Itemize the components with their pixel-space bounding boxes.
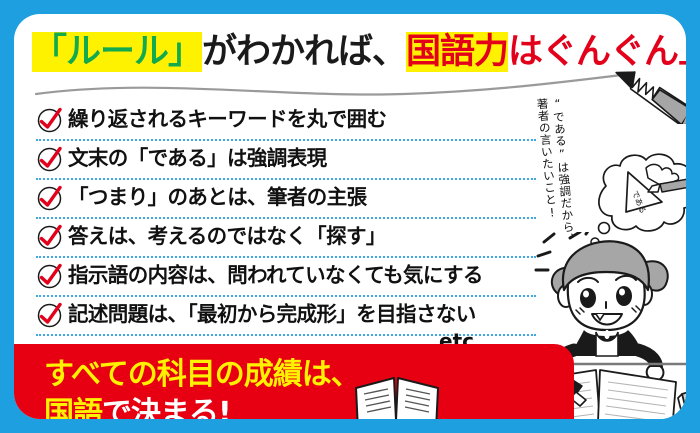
vertical-note: “である”は強調だから、 著者の言いたいこと!	[534, 96, 574, 216]
headline-segment-kokugoryoku: 国語力	[406, 32, 508, 72]
check-circle-icon	[36, 224, 63, 251]
list-item: 指示語の内容は、問われていなくても気にする	[36, 258, 536, 297]
check-circle-icon	[36, 185, 63, 212]
headline-segment-rule: 「ルール」	[32, 32, 202, 72]
list-item-label: 文末の「である」は強調表現	[68, 148, 327, 172]
bottom-banner: すべての科目の成績は、 国語で決まる!	[14, 344, 574, 419]
page-title: 「ルール」がわかれば、国語力はぐんぐん上がる!	[32, 30, 686, 74]
list-item-label: 繰り返されるキーワードを丸で囲む	[68, 109, 386, 133]
list-item-label: 「つまり」のあとは、筆者の主張	[68, 187, 367, 211]
check-circle-icon	[36, 302, 63, 329]
list-item: 答えは、考えるのではなく「探す」	[36, 219, 536, 258]
list-item: 文末の「である」は強調表現	[36, 141, 536, 180]
check-circle-icon	[36, 263, 63, 290]
white-card: 「ルール」がわかれば、国語力はぐんぐん上がる!	[14, 14, 686, 419]
list-item: 繰り返されるキーワードを丸で囲む	[36, 102, 536, 141]
check-circle-icon	[36, 107, 63, 134]
headline-segment-connector: がわかれば、	[202, 32, 406, 72]
poster-root: 「ルール」がわかれば、国語力はぐんぐん上がる!	[0, 0, 700, 433]
rules-checklist: 繰り返されるキーワードを丸で囲む 文末の「である」は強調表現	[36, 102, 536, 336]
illustration: “である”は強調だから、 著者の言いたいこと! である	[512, 84, 686, 384]
check-circle-icon	[36, 146, 63, 173]
banner-text: すべての科目の成績は、 国語で決まる!	[44, 355, 360, 419]
list-item: 「つまり」のあとは、筆者の主張	[36, 180, 536, 219]
banner-line-2-white: で決まる!	[102, 396, 231, 419]
open-book-icon	[350, 372, 446, 419]
list-item-label: 指示語の内容は、問われていなくても気にする	[68, 265, 483, 289]
banner-line-1: すべての科目の成績は、	[44, 357, 360, 392]
banner-line-2-yellow: 国語	[44, 396, 102, 419]
list-item-label: 記述問題は、「最初から完成形」を目指さない	[68, 304, 476, 328]
list-item-label: 答えは、考えるのではなく「探す」	[68, 226, 386, 250]
